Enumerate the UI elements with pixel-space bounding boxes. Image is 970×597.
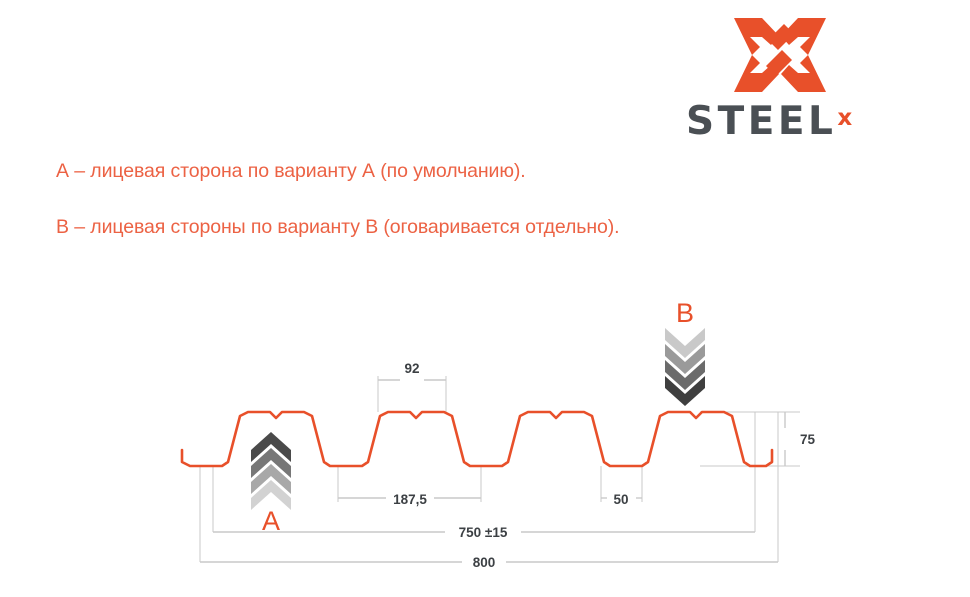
legend-line-variant-a: А – лицевая сторона по варианту А (по ум… bbox=[56, 160, 526, 183]
profile-drawing: 92 187,5 50 750 ±15 800 75 A B bbox=[0, 280, 970, 597]
dimension-top-flange: 92 bbox=[404, 361, 419, 376]
dimension-total-width: 800 bbox=[473, 555, 496, 570]
brand-wordmark-superscript: x bbox=[837, 105, 852, 131]
brand-wordmark: STEELx bbox=[686, 102, 906, 142]
side-b-label: B bbox=[676, 298, 694, 328]
brand-wordmark-main: STEEL bbox=[686, 99, 836, 144]
dimension-valley: 50 bbox=[613, 492, 628, 507]
dimension-pitch: 187,5 bbox=[393, 492, 427, 507]
steelx-x-mark-icon bbox=[732, 14, 828, 96]
legend-line-variant-b: В – лицевая стороны по варианту В (огова… bbox=[56, 216, 619, 239]
side-a-label: A bbox=[262, 506, 280, 536]
brand-logo: STEELx bbox=[686, 14, 906, 142]
side-b-chevron-icon bbox=[665, 328, 705, 406]
dimension-cover-width: 750 ±15 bbox=[459, 525, 508, 540]
dimension-height: 75 bbox=[800, 432, 816, 447]
side-a-chevron-icon bbox=[251, 432, 291, 510]
